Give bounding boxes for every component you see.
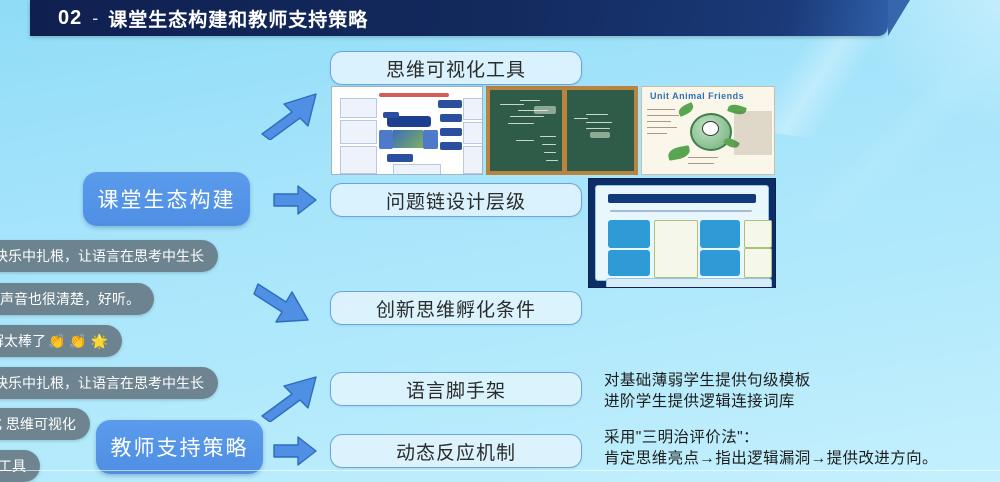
chalk-stroke [510,116,544,117]
media-slide-capture [588,178,776,288]
media-blackboard-photo [486,86,638,175]
chat-text: 动化 思维可视化 [0,415,76,433]
chalk-stroke [586,114,608,115]
mindmap-node [440,128,462,136]
slide-card [700,220,740,248]
header-tip-decoration [888,0,910,36]
slide-screenshot [744,220,772,248]
slide-card [700,250,740,276]
blackboard-divider [562,90,567,171]
poster-text-line [688,163,714,164]
desc-dynamic-response: 采用"三明治评价法"： 肯定思维亮点→指出逻辑漏洞→提供改进方向。 [604,427,994,469]
poster-title: Unit Animal Friends [650,91,744,101]
poster-text-line [688,157,718,158]
chalk-blob [534,106,556,114]
chalk-stroke [546,160,558,161]
mindmap-node [379,130,393,149]
slide-subtext [610,210,752,212]
mindmap-node [438,100,462,108]
chalk-blob [590,132,610,138]
chat-text: 新，声音也很清楚，好听。 [0,290,140,308]
item-scaffold[interactable]: 语言脚手架 [330,372,582,406]
page-title: 课堂生态构建和教师支持策略 [108,5,368,32]
poster-text-line [647,115,679,116]
mindmap-node [423,130,438,149]
poster-leaf [677,102,695,117]
chat-text: 视化工具 [0,457,26,475]
mindmap-text-block [463,98,483,120]
arrow-up-right-icon [258,88,320,140]
slide-canvas: 02 - 课堂生态构建和教师支持策略 [0,0,1000,482]
item-question-chain[interactable]: 问题链设计层级 [330,183,582,217]
chalk-stroke [516,140,534,141]
chat-bubble-5: 动化 思维可视化 [0,408,90,440]
mindmap-text-block [340,98,377,118]
category-ecology[interactable]: 课堂生态构建 [83,172,250,226]
mindmap-canvas [335,90,479,171]
chat-text: 讲解太棒了 [0,332,46,350]
arrow-down-right-icon [252,278,314,328]
chalk-stroke [544,152,556,153]
poster-text-line [647,121,671,122]
mindmap-image-node [393,130,423,148]
mindmap-node [440,142,462,150]
poster-leaf [667,145,691,161]
mindmap-node [387,154,413,162]
chalk-stroke [520,100,540,101]
chat-bubble-3: 讲解太棒了 👏 👏 🌟 [0,325,122,357]
slide-card [608,220,650,248]
media-animal-friends-poster: Unit Animal Friends [641,86,775,175]
arrow-up-right-icon-2 [258,372,320,422]
slide-footer-note [606,278,772,288]
chalk-stroke [586,122,612,123]
arrow-right-icon-1 [272,183,318,217]
chat-text: 在快乐中扎根，让语言在思考中生长 [0,374,204,392]
category-teacher-support[interactable]: 教师支持策略 [96,420,263,474]
chalk-stroke [574,118,588,119]
arrow-right-icon-2 [272,434,318,468]
chalk-stroke [540,136,556,137]
slide-card [608,250,650,276]
item-dynamic-response[interactable]: 动态反应机制 [330,434,582,468]
slide-screenshot [654,220,698,278]
section-header: 02 - 课堂生态构建和教师支持策略 [30,0,888,36]
mindmap-text-block [393,164,441,175]
item-incubation[interactable]: 创新思维孵化条件 [330,291,582,325]
poster-panda-icon [702,121,719,136]
mindmap-node [383,112,399,118]
mindmap-text-block [340,146,377,174]
chat-bubble-2: 新，声音也很清楚，好听。 [0,283,154,315]
mindmap-text-block [463,122,483,144]
header-dash: - [92,8,98,29]
mindmap-text-block [463,146,483,174]
mindmap-text-block [340,120,377,144]
chat-emoji: 👏 👏 🌟 [48,332,108,350]
mindmap-node [440,114,462,122]
chat-bubble-4: 在快乐中扎根，让语言在思考中生长 [0,367,218,399]
chalk-stroke [542,144,556,145]
slide-heading-bar [608,194,756,203]
chat-text: 在快乐中扎根，让语言在思考中生长 [0,247,204,265]
item-visual-tools[interactable]: 思维可视化工具 [330,51,582,85]
chalk-stroke [508,123,534,124]
slide-inner [595,185,769,281]
slide-screenshot [744,248,772,278]
bottom-divider [0,470,1000,471]
media-mindmap-doc [331,86,483,175]
poster-text-line [647,133,667,134]
poster-text-line [647,109,675,110]
chalk-stroke [586,128,610,129]
chat-bubble-1: 在快乐中扎根，让语言在思考中生长 [0,240,218,272]
desc-scaffold: 对基础薄弱学生提供句级模板 进阶学生提供逻辑连接词库 [604,370,974,412]
mindmap-title-bar [379,93,449,97]
chalk-stroke [500,104,524,105]
section-number: 02 [58,7,82,30]
chat-bubble-6: 视化工具 [0,450,40,482]
poster-text-block [734,111,772,155]
poster-text-line [647,127,677,128]
